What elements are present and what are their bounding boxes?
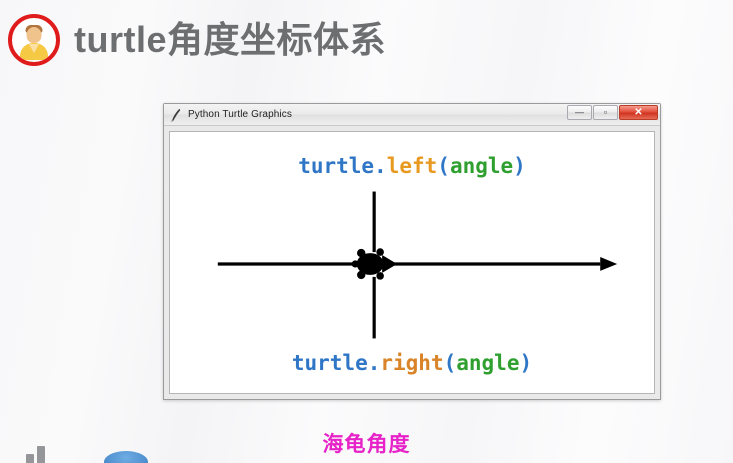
right-arrowhead (600, 257, 617, 271)
code-right-close: ) (519, 351, 532, 375)
code-right-method: right (380, 351, 443, 375)
window-titlebar[interactable]: Python Turtle Graphics — ▫ ✕ (164, 104, 660, 126)
window-title-text: Python Turtle Graphics (188, 109, 292, 120)
close-icon: ✕ (634, 108, 642, 118)
code-label-turtle-right: turtle.right(angle) (170, 351, 654, 375)
turtle-cursor-icon (352, 248, 397, 279)
code-right-argument: angle (456, 351, 519, 375)
bar-chart-icon (26, 439, 56, 463)
maximize-icon: ▫ (604, 108, 607, 117)
feather-pen-icon (170, 108, 183, 122)
code-right-open: ( (444, 351, 457, 375)
close-button[interactable]: ✕ (619, 105, 658, 120)
bar-chart-bar-1 (26, 454, 34, 463)
turtle-canvas: turtle.left(angle) (169, 131, 655, 394)
avatar-head (27, 27, 42, 43)
user-avatar-icon (8, 14, 60, 66)
maximize-button[interactable]: ▫ (593, 105, 618, 120)
page-title: turtle角度坐标体系 (74, 22, 386, 58)
python-turtle-graphics-window: Python Turtle Graphics — ▫ ✕ turtle.left… (163, 103, 661, 400)
bar-chart-bar-2 (37, 446, 45, 463)
code-right-prefix: turtle. (292, 351, 381, 375)
window-controls: — ▫ ✕ (567, 105, 658, 120)
slide-header: turtle角度坐标体系 (8, 14, 386, 66)
minimize-icon: — (575, 108, 584, 117)
slide-root: turtle角度坐标体系 Python Turtle Graphics — ▫ … (0, 0, 733, 463)
minimize-button[interactable]: — (567, 105, 592, 120)
